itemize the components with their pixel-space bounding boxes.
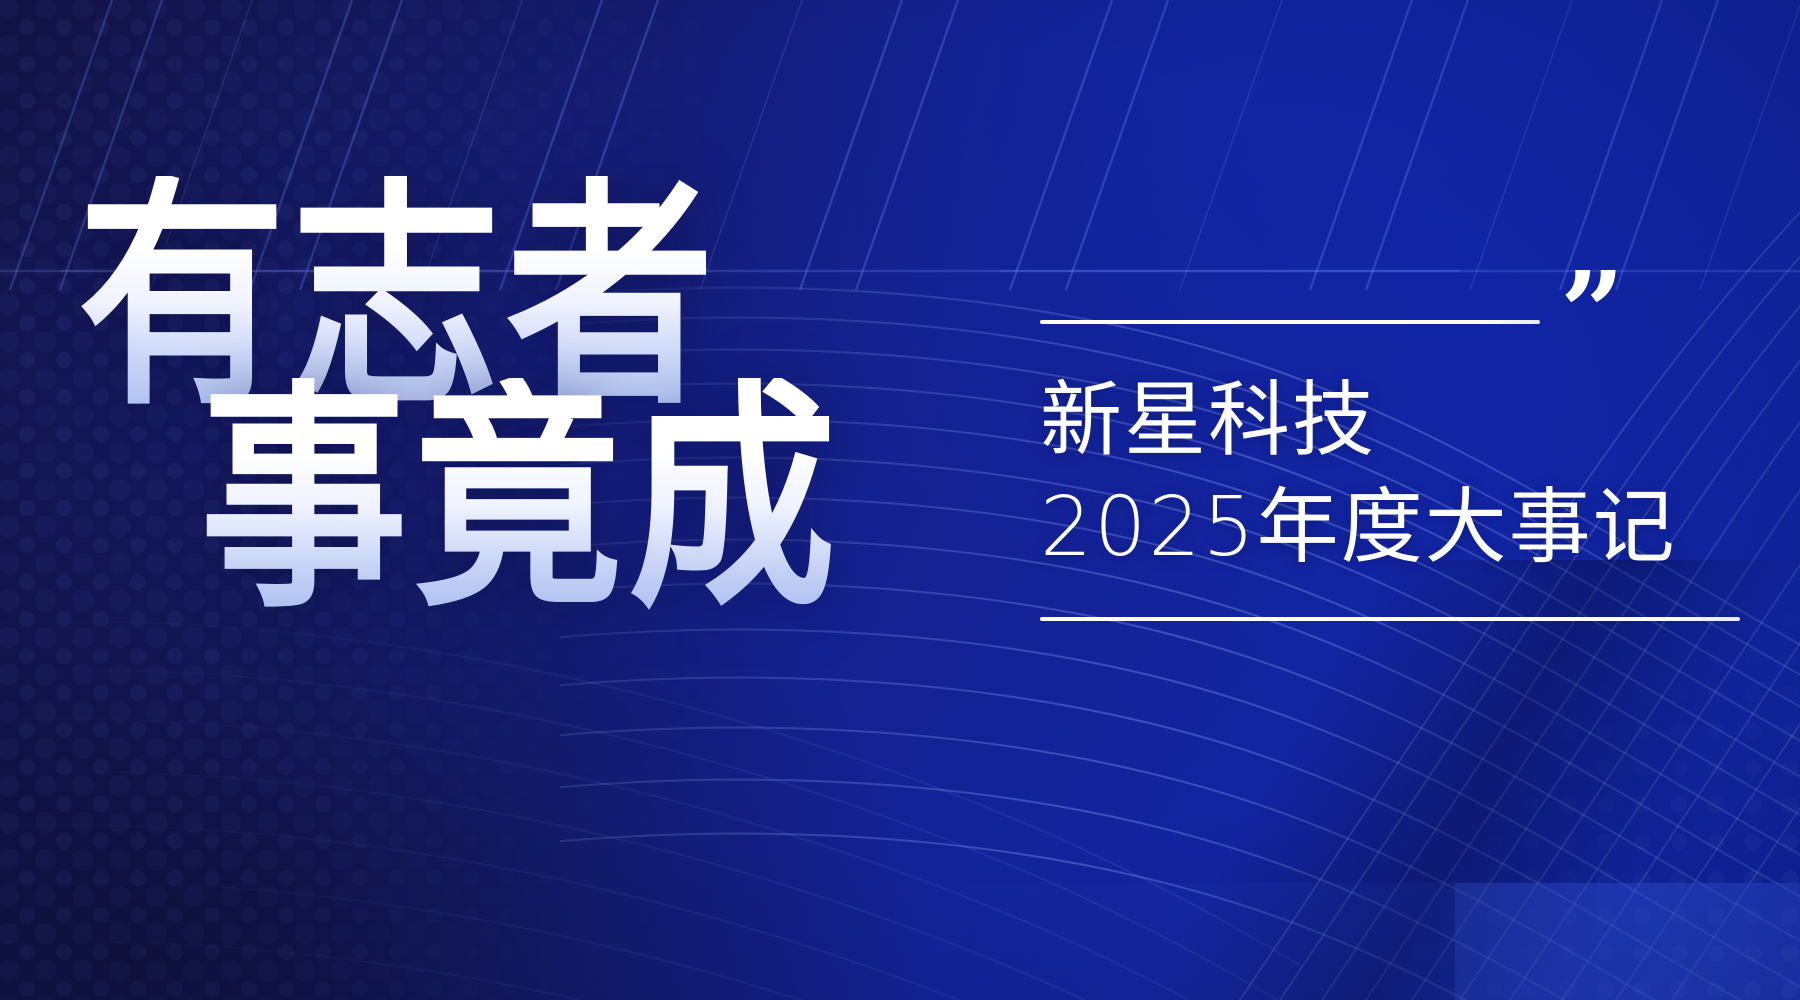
- side-quote-block: ” 新星科技 2025年度大事记: [1040, 320, 1760, 621]
- brand-name: 新星科技: [1040, 368, 1760, 475]
- headline-line-2: 事竟成: [200, 378, 1131, 621]
- subtitle-text: 2025年度大事记: [1040, 475, 1760, 582]
- divider-rule-top: [1040, 320, 1540, 324]
- banner-canvas: 有志者 事竟成 ” 新星科技 2025年度大事记: [0, 0, 1800, 1000]
- closing-quote-icon: ”: [1560, 258, 1624, 370]
- side-text-group: 新星科技 2025年度大事记: [1040, 368, 1760, 581]
- headline-block: 有志者 事竟成: [78, 176, 1078, 574]
- top-rule-row: ”: [1040, 320, 1760, 324]
- divider-rule-bottom: [1040, 617, 1740, 621]
- highlight-panel-bottom-right: [1455, 883, 1800, 1000]
